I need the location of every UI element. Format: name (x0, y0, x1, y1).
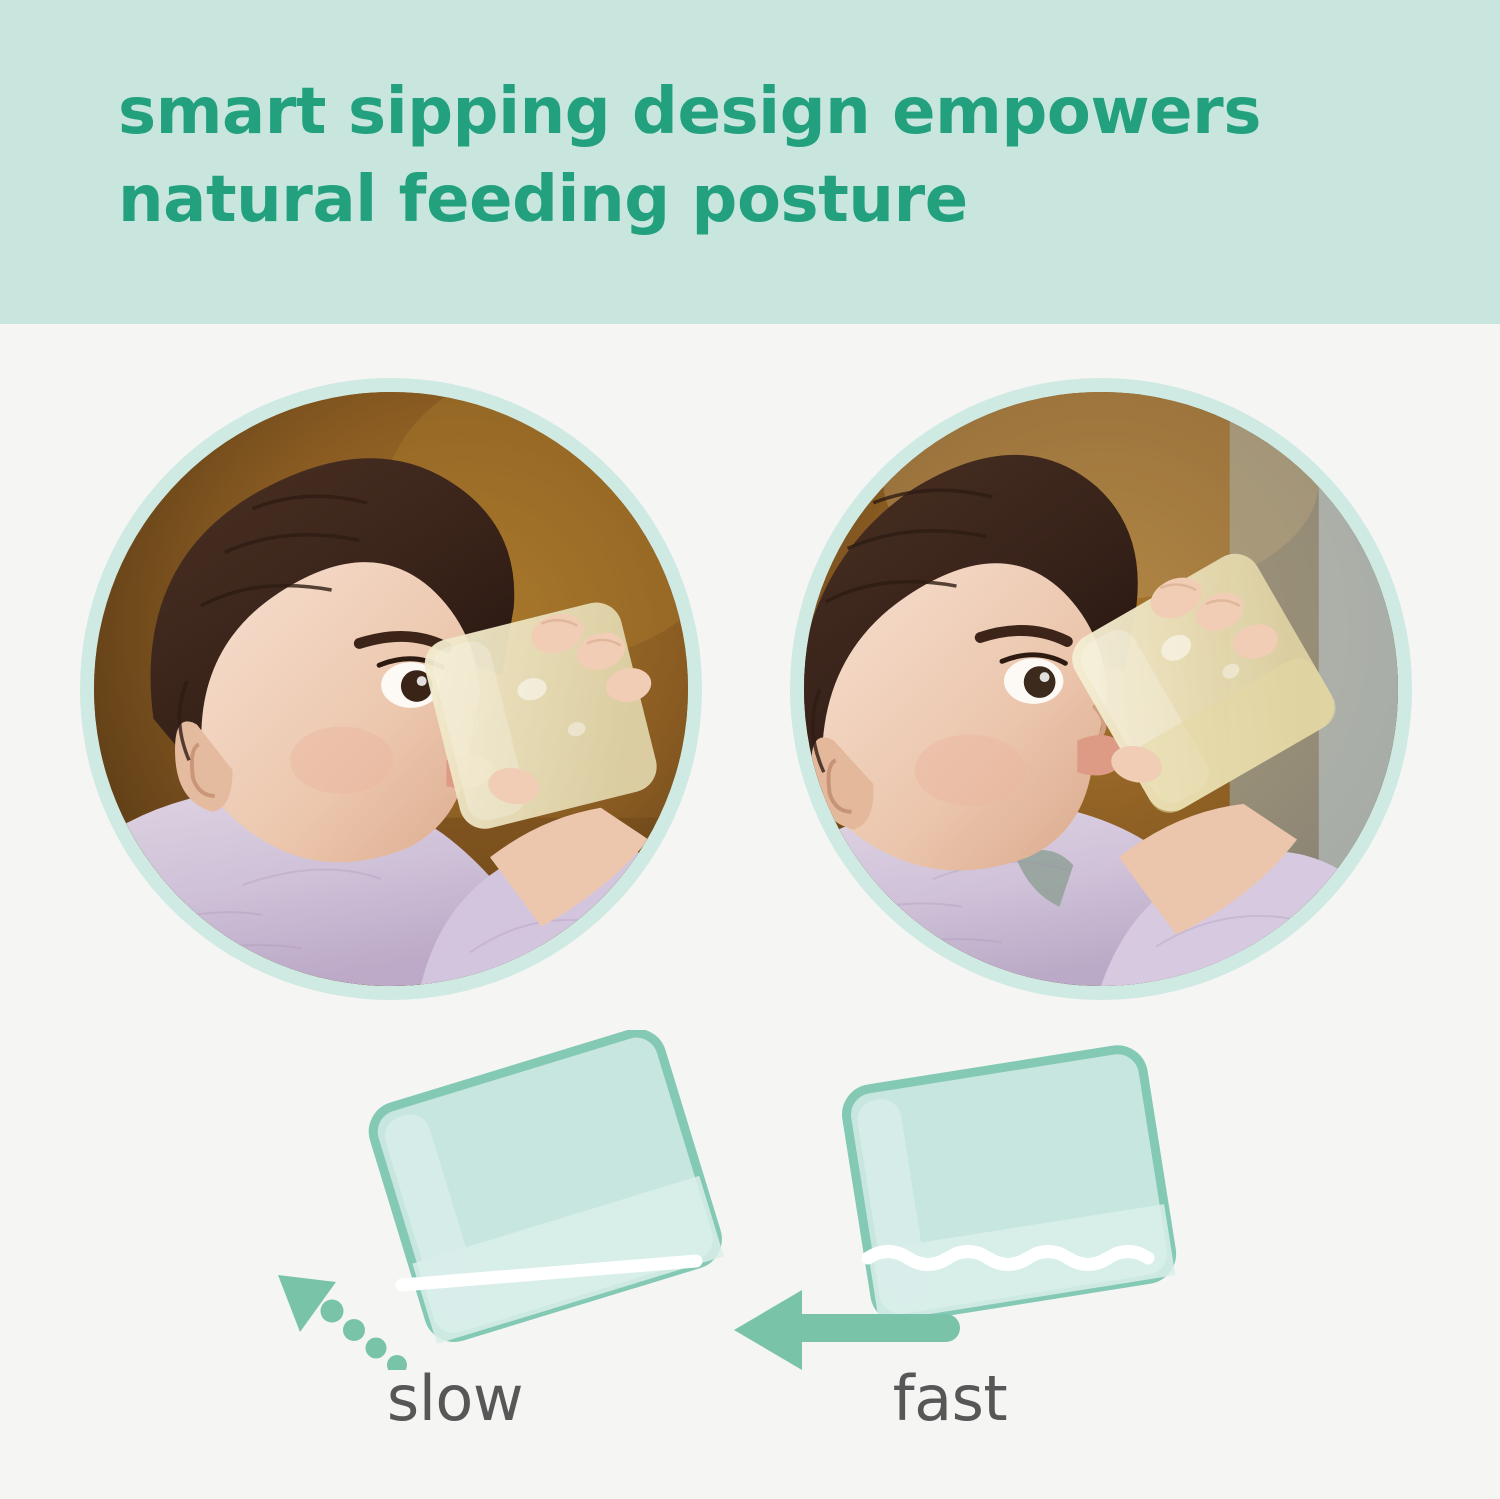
diagram-label-fast: fast (670, 1362, 1230, 1435)
baby-drinking-bottle-upright (94, 392, 688, 986)
bottle-shape-slow (367, 1030, 724, 1344)
bottle-shape-fast (843, 1046, 1176, 1322)
photo-circle-left (80, 378, 702, 1000)
header-banner: smart sipping design empowers natural fe… (0, 0, 1500, 324)
diagram-label-slow: slow (175, 1362, 735, 1435)
photo-circle-right (790, 378, 1412, 1000)
baby-drinking-bottle-tilted (804, 392, 1398, 986)
page-title: smart sipping design empowers natural fe… (118, 68, 1438, 245)
diagram-fast: fast (710, 1030, 1270, 1490)
page-root: smart sipping design empowers natural fe… (0, 0, 1500, 1499)
photo-icon (94, 392, 688, 986)
fast-bottle-illustration (710, 1030, 1270, 1370)
slow-bottle-illustration (230, 1030, 790, 1370)
photo-icon (804, 392, 1398, 986)
photo-row (0, 378, 1500, 1002)
diagram-row: slow fast (0, 1030, 1500, 1490)
